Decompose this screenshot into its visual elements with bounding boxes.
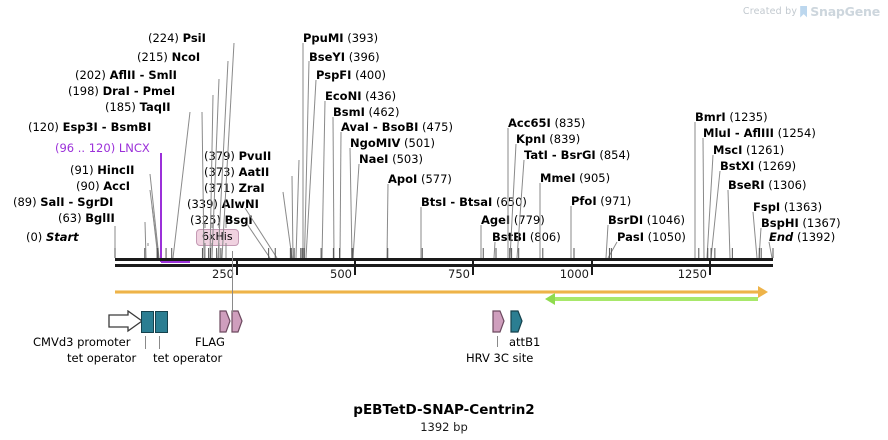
ruler-label-1250: 1250 xyxy=(678,267,707,281)
tet-operator-2-leader xyxy=(159,336,160,349)
ruler-label-250: 250 xyxy=(212,267,234,281)
ruler-label-500: 500 xyxy=(330,267,352,281)
ruler-tick-500 xyxy=(354,261,356,275)
ruler-label-1000: 1000 xyxy=(560,267,589,281)
feature-label-cmvd3-promoter[interactable]: CMVd3 promoter xyxy=(33,336,130,349)
flag-tag-glyph-1[interactable] xyxy=(219,310,231,334)
plasmid-map-canvas: Created by SnapGene (224) PsiI (215) Nco… xyxy=(0,0,888,440)
tet-operator-1-leader xyxy=(145,336,146,349)
cmvd3-promoter-arrow[interactable] xyxy=(108,310,144,334)
feature-label-tet-operator-2[interactable]: tet operator xyxy=(153,352,222,365)
page-title: pEBTetD-SNAP-Centrin2 xyxy=(0,402,888,418)
feature-label-attb1[interactable]: attB1 xyxy=(509,336,540,349)
plasmid-length-label: 1392 bp xyxy=(0,420,888,434)
hrv-3c-site-glyph[interactable] xyxy=(492,310,506,334)
leader-line-layer xyxy=(0,0,888,265)
attb1-site-glyph[interactable] xyxy=(510,310,524,334)
feature-label-flag[interactable]: FLAG xyxy=(195,336,225,349)
tet-operator-1-box[interactable] xyxy=(141,311,154,333)
ruler-tick-1250 xyxy=(709,261,711,275)
feature-label-tet-operator-1[interactable]: tet operator xyxy=(67,352,136,365)
ruler-tick-750 xyxy=(472,261,474,275)
lncx-feature-bracket xyxy=(161,153,190,262)
flag-tag-glyph-2[interactable] xyxy=(231,310,243,334)
ruler-tick-1000 xyxy=(591,261,593,275)
flag-tag-leader xyxy=(232,251,233,313)
tet-operator-2-box[interactable] xyxy=(155,311,168,333)
hrv-3c-site-leader xyxy=(497,336,498,347)
ruler-tick-250 xyxy=(236,261,238,275)
feature-label-hrv-3c-site[interactable]: HRV 3C site xyxy=(466,352,533,365)
ruler-label-750: 750 xyxy=(448,267,470,281)
